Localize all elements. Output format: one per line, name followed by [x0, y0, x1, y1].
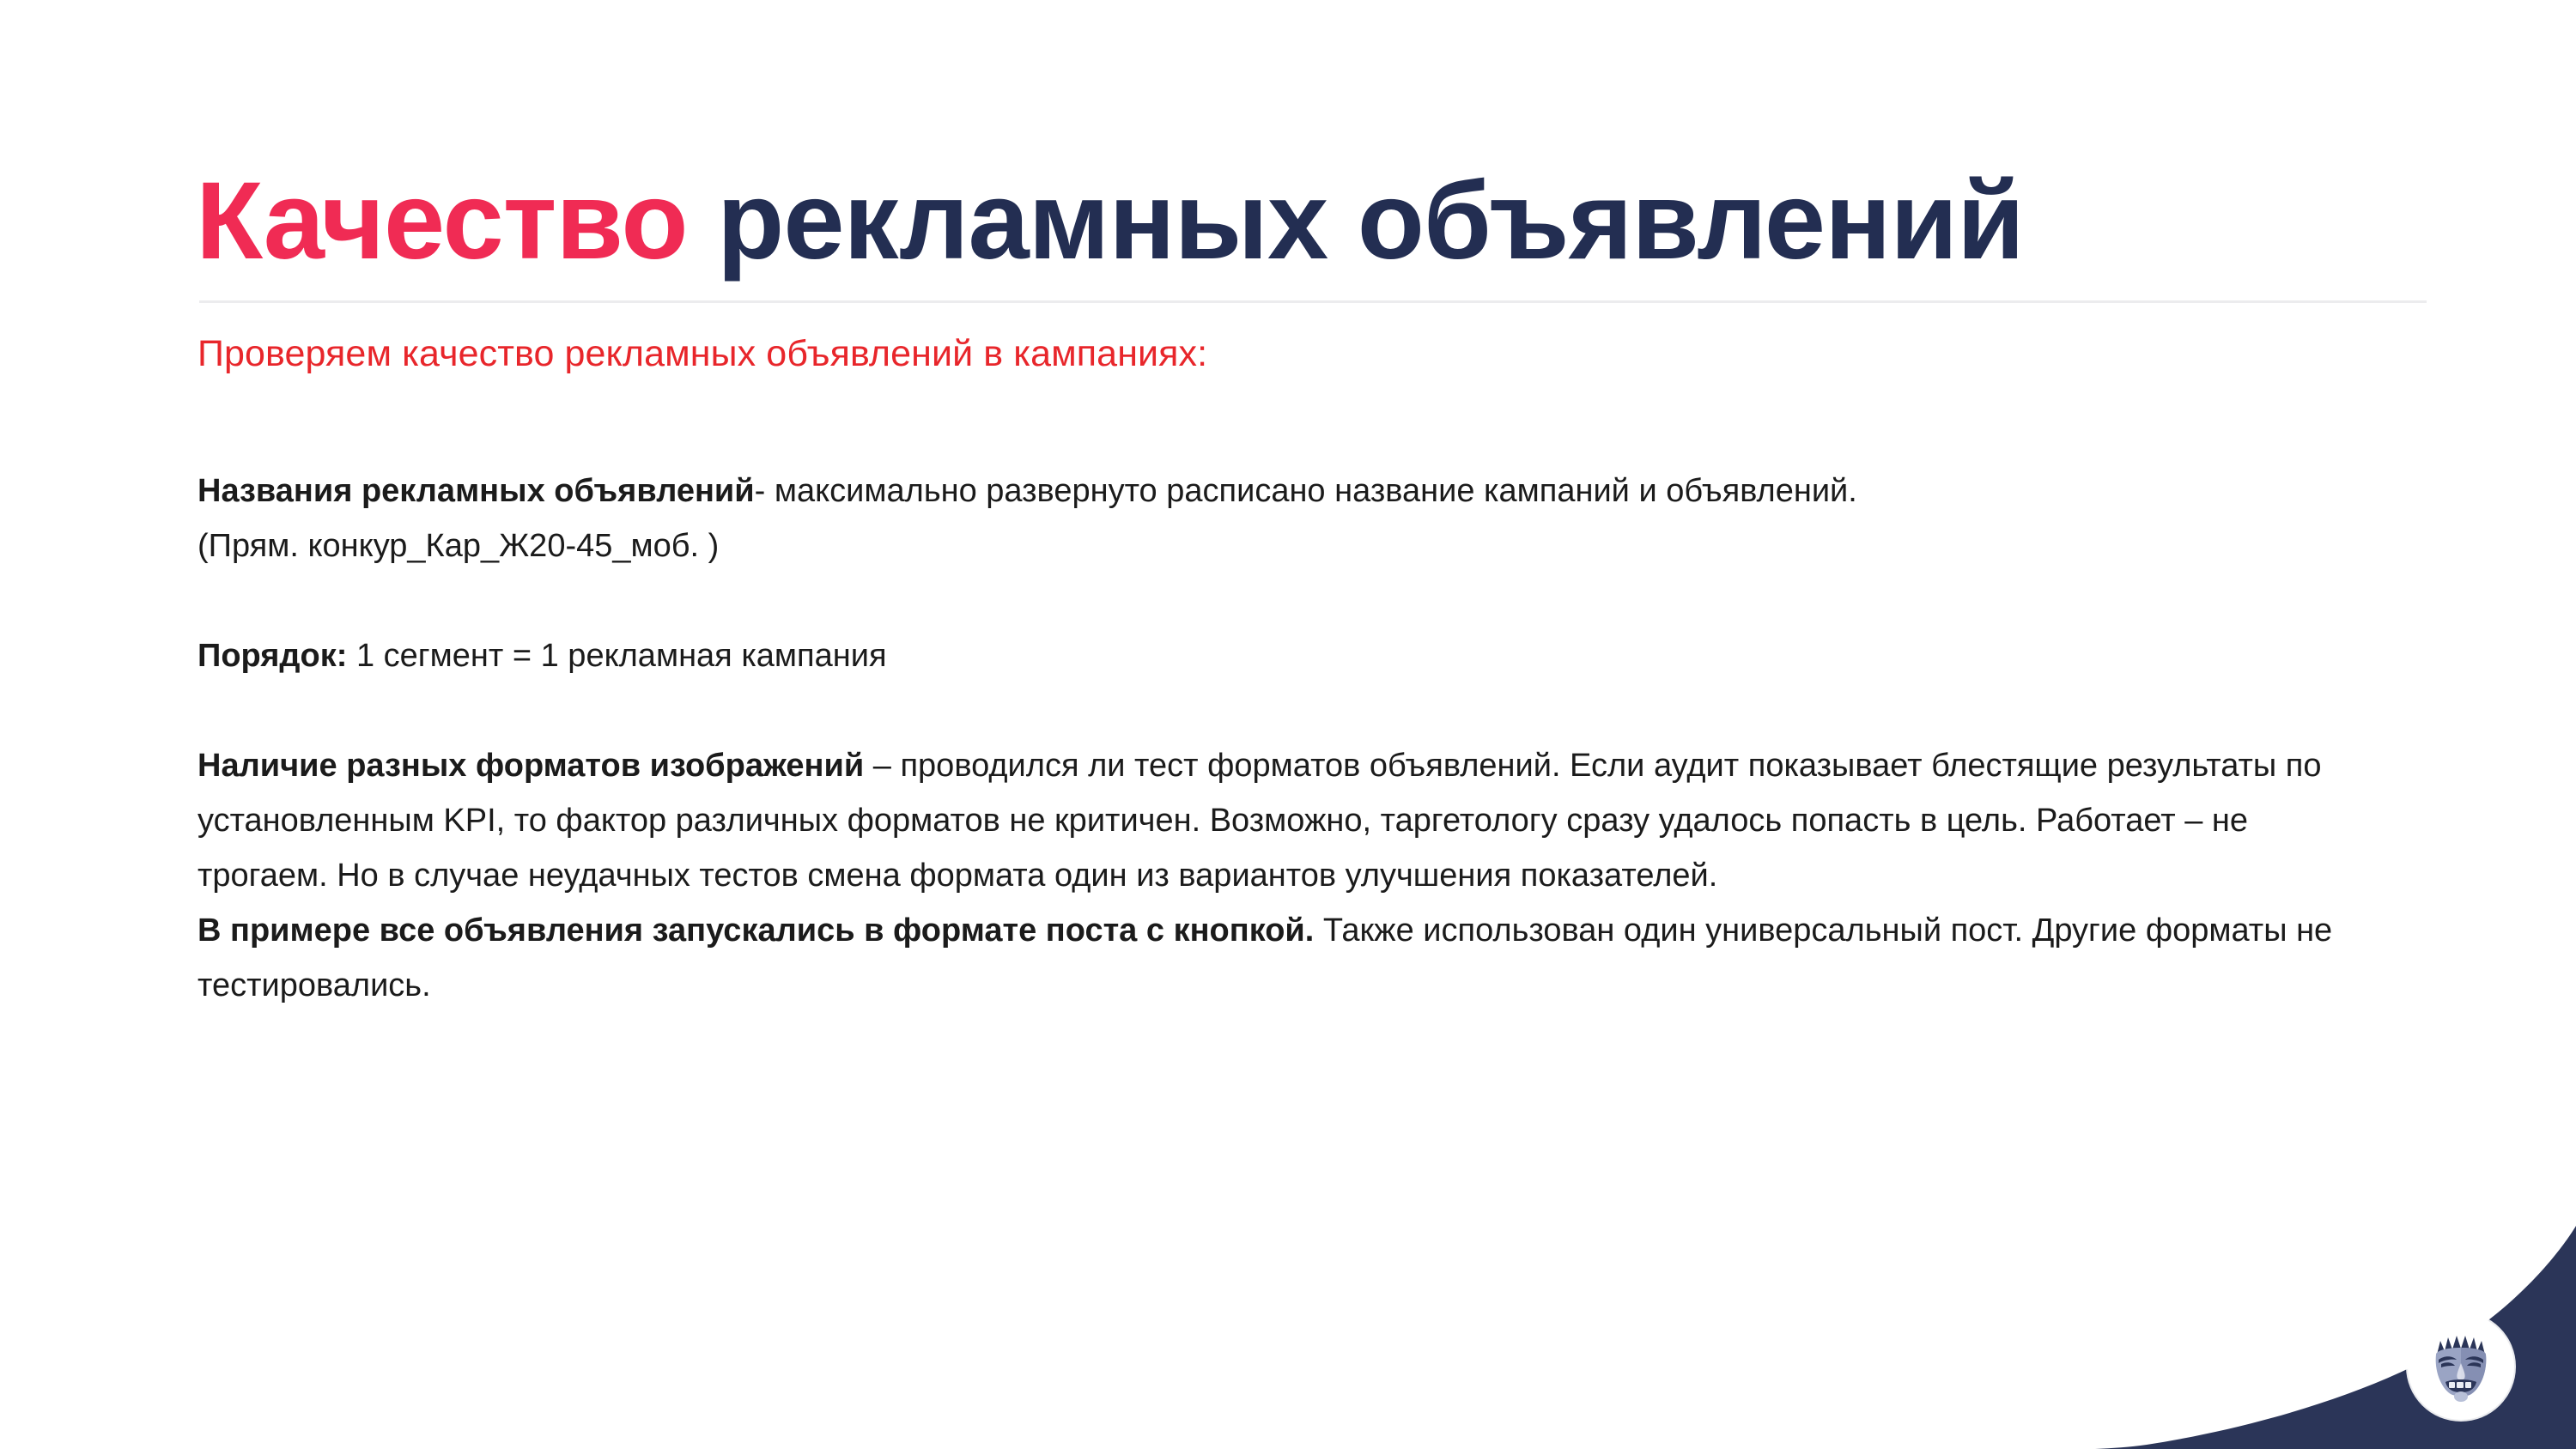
paragraph-order-text: 1 сегмент = 1 рекламная кампания: [347, 638, 886, 674]
angry-face-mascot-icon: [2420, 1325, 2502, 1408]
paragraph-image-formats: Наличие разных форматов изображений – пр…: [197, 738, 2370, 903]
paragraph-order: Порядок: 1 сегмент = 1 рекламная кампани…: [197, 628, 2370, 683]
subtitle: Проверяем качество рекламных объявлений …: [197, 330, 1207, 379]
paragraph-ad-names-text: - максимально развернуто расписано назва…: [755, 473, 1857, 509]
paragraph-ad-names-example: (Прям. конкур_Кар_Ж20-45_моб. ): [197, 528, 719, 564]
slide-root: Качество рекламных объявлений Проверяем …: [0, 0, 2576, 1449]
paragraph-example-format-bold: В примере все объявления запускались в ф…: [197, 912, 1314, 949]
paragraph-example-format: В примере все объявления запускались в ф…: [197, 903, 2370, 1013]
header-divider: [199, 300, 2427, 303]
mascot-logo-badge: [2408, 1313, 2514, 1420]
page-title: Качество рекламных объявлений: [196, 164, 2514, 279]
paragraph-ad-names: Названия рекламных объявлений- максималь…: [197, 464, 2370, 573]
body-content: Названия рекламных объявлений- максималь…: [197, 464, 2370, 1013]
paragraph-order-bold: Порядок:: [197, 638, 347, 674]
paragraph-ad-names-bold: Названия рекламных объявлений: [197, 473, 755, 509]
paragraph-image-formats-bold: Наличие разных форматов изображений: [197, 748, 864, 784]
page-title-rest: рекламных объявлений: [688, 160, 2024, 282]
page-title-accent: Качество: [196, 160, 688, 282]
